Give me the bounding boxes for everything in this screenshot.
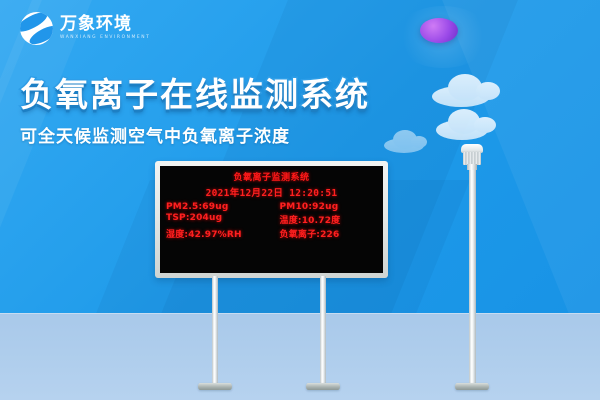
led-reading-row: PM2.5:69ug PM10:92ug [166, 202, 377, 212]
reading-humidity: 湿度:42.97%RH [166, 227, 272, 240]
pole-base-plate [455, 383, 489, 390]
billboard-support-pole-right [320, 276, 326, 386]
page-subtitle: 可全天候监测空气中负氧离子浓度 [20, 122, 290, 147]
led-billboard: 负氧离子监测系统 2021年12月22日 12:20:51 PM2.5:69ug… [155, 161, 388, 278]
cloud-icon [436, 120, 488, 140]
promo-banner: 万象环境 WANXIANG ENVIRONMENT 负氧离子在线监测系统 可全天… [0, 0, 600, 400]
globe-swoosh-logo-icon [20, 12, 53, 45]
cloud-icon [432, 86, 490, 107]
reading-temp: 温度:10.72度 [272, 213, 378, 226]
brand-logo: 万象环境 WANXIANG ENVIRONMENT [20, 12, 150, 45]
pole-base-plate [198, 383, 232, 390]
purple-orb-icon [420, 18, 458, 43]
billboard-support-pole-left [212, 276, 218, 386]
reading-anion: 负氧离子:226 [272, 227, 378, 240]
led-screen-title: 负氧离子监测系统 [160, 170, 383, 183]
cloud-icon [384, 138, 424, 153]
page-title: 负氧离子在线监测系统 [20, 68, 370, 116]
ground-plane [0, 313, 600, 400]
reading-tsp: TSP:204ug [166, 213, 272, 226]
reading-pm10: PM10:92ug [272, 202, 378, 212]
led-reading-row: 湿度:42.97%RH 负氧离子:226 [166, 227, 377, 240]
led-screen: 负氧离子监测系统 2021年12月22日 12:20:51 PM2.5:69ug… [160, 166, 383, 273]
brand-name-cn: 万象环境 [60, 16, 150, 33]
brand-name-en: WANXIANG ENVIRONMENT [60, 36, 150, 40]
led-readings: PM2.5:69ug PM10:92ug TSP:204ug 温度:10.72度… [160, 202, 383, 240]
led-reading-row: TSP:204ug 温度:10.72度 [166, 213, 377, 226]
pole-base-plate [306, 383, 340, 390]
reading-pm25: PM2.5:69ug [166, 202, 272, 212]
sensor-head-icon [459, 144, 485, 170]
air-quality-sensor-pole [469, 168, 476, 386]
led-datetime: 2021年12月22日 12:20:51 [160, 185, 383, 199]
